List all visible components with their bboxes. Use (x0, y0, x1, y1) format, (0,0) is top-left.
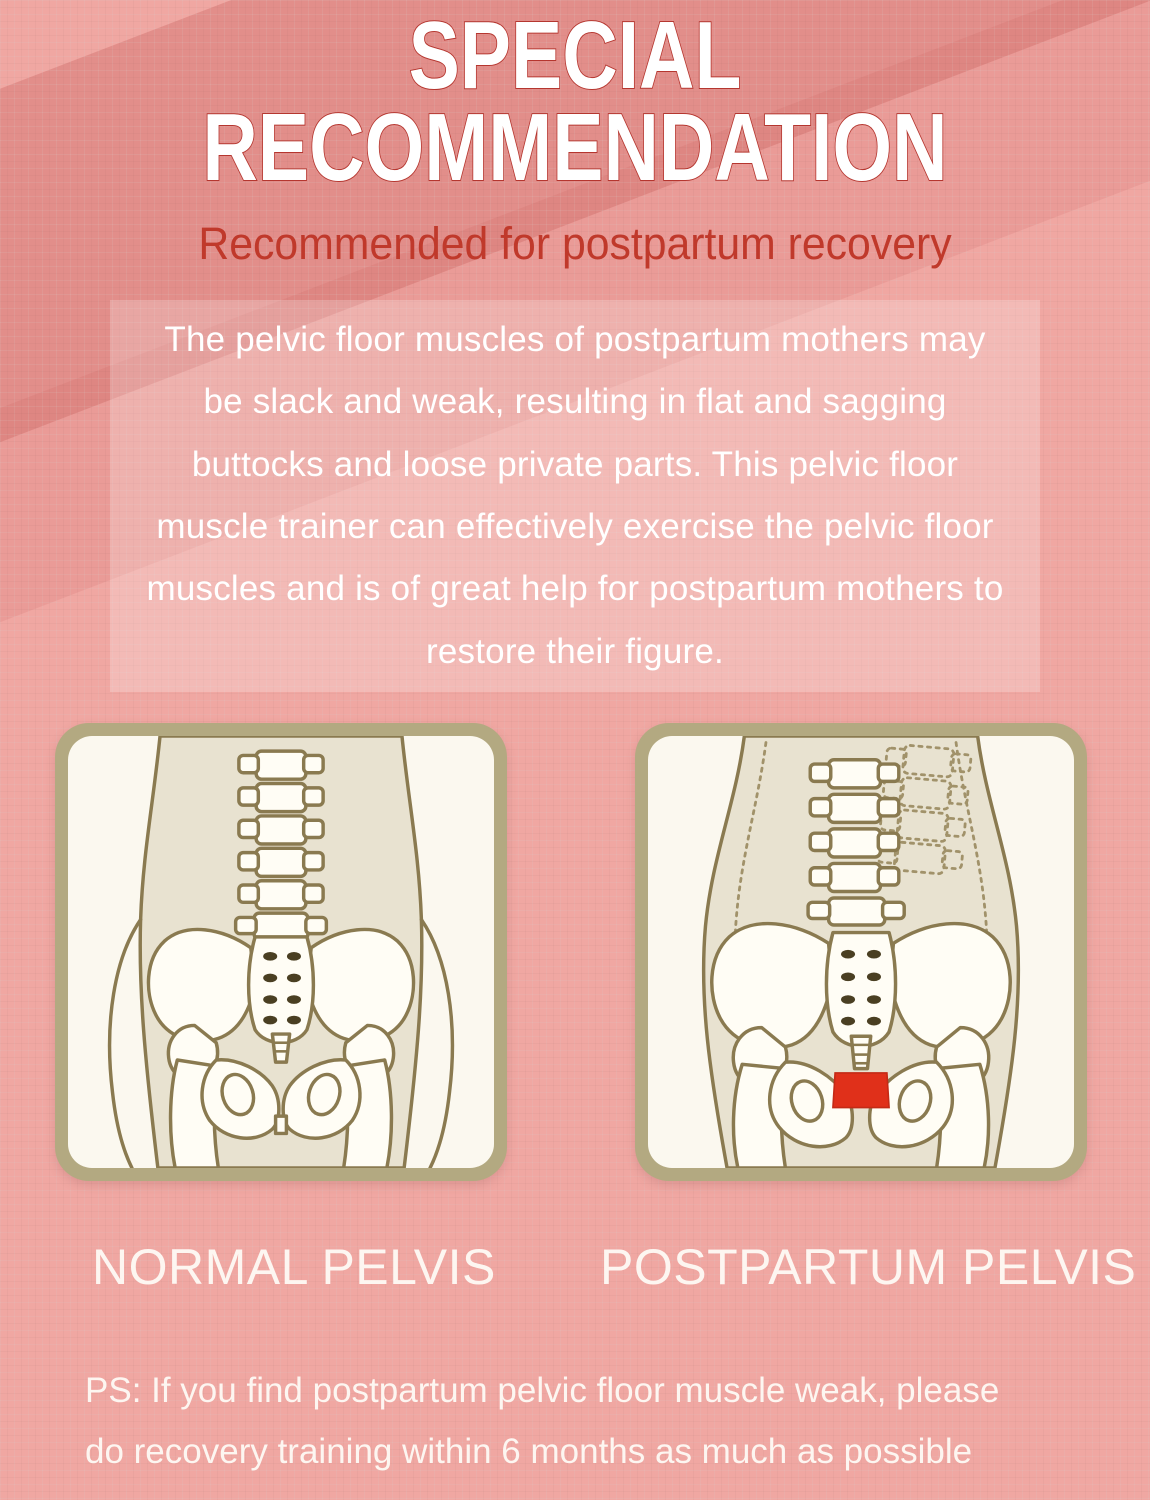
title-line-2: RECOMMENDATION (115, 102, 1035, 194)
body-paragraph: The pelvic floor muscles of postpartum m… (144, 309, 1006, 683)
card-postpartum-pelvis: .bo2 { fill:none; stroke:#8a7a50; stroke… (635, 723, 1087, 1181)
title-line-1: SPECIAL (115, 10, 1035, 102)
right-ilium (307, 929, 414, 1041)
sacrum (249, 937, 314, 1043)
left-ilium (712, 924, 832, 1048)
card-inner-postpartum: .bo2 { fill:none; stroke:#8a7a50; stroke… (648, 736, 1074, 1168)
ps-note-line-1: PS: If you find postpartum pelvic floor … (85, 1360, 1075, 1421)
normal-pelvis-diagram: .bo { fill:none; stroke:#8a7a50; stroke-… (68, 736, 494, 1168)
ps-note: PS: If you find postpartum pelvic floor … (85, 1360, 1075, 1483)
card-inner-normal: .bo { fill:none; stroke:#8a7a50; stroke-… (68, 736, 494, 1168)
pelvis-card-row: .bo { fill:none; stroke:#8a7a50; stroke-… (0, 723, 1150, 1183)
ps-note-line-2: do recovery training within 6 months as … (85, 1421, 1075, 1482)
card-normal-pelvis: .bo { fill:none; stroke:#8a7a50; stroke-… (55, 723, 507, 1181)
poster-root: SPECIAL RECOMMENDATION Recommended for p… (0, 0, 1150, 1500)
body-text-panel: The pelvic floor muscles of postpartum m… (110, 300, 1040, 692)
subtitle: Recommended for postpartum recovery (29, 218, 1122, 270)
postpartum-pelvis-diagram: .bo2 { fill:none; stroke:#8a7a50; stroke… (648, 736, 1074, 1168)
right-ilium (890, 924, 1010, 1048)
pelvis-labels: NORMAL PELVIS POSTPARTUM PELVIS (0, 1238, 1150, 1308)
label-normal-pelvis: NORMAL PELVIS (92, 1238, 496, 1296)
pubic-symphysis (276, 1116, 287, 1133)
pubic-symphysis-gap-marker (833, 1073, 889, 1108)
title-block: SPECIAL RECOMMENDATION (0, 10, 1150, 194)
left-ilium (148, 929, 255, 1041)
label-postpartum-pelvis: POSTPARTUM PELVIS (600, 1238, 1136, 1296)
sacrum (826, 933, 895, 1047)
coccyx (272, 1034, 289, 1062)
